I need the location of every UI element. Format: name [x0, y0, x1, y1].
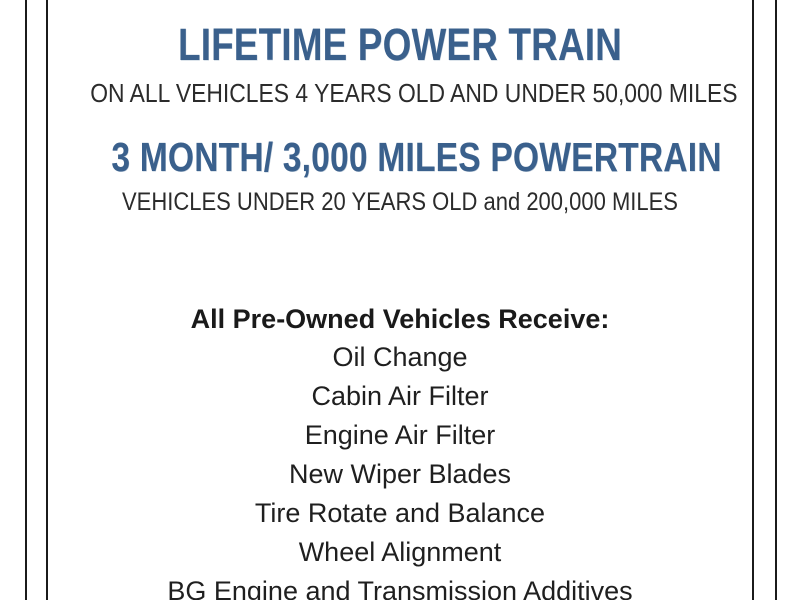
list-item: New Wiper Blades: [48, 455, 752, 494]
services-title: All Pre-Owned Vehicles Receive:: [48, 300, 752, 338]
list-item: Engine Air Filter: [48, 416, 752, 455]
list-item: Wheel Alignment: [48, 533, 752, 572]
services-list: Oil Change Cabin Air Filter Engine Air F…: [48, 338, 752, 600]
list-item: Cabin Air Filter: [48, 377, 752, 416]
list-item: Tire Rotate and Balance: [48, 494, 752, 533]
lifetime-powertrain-headline: LIFETIME POWER TRAIN: [111, 22, 688, 67]
list-item: BG Engine and Transmission Additives: [48, 572, 752, 600]
poster-content: LIFETIME POWER TRAIN ON ALL VEHICLES 4 Y…: [48, 0, 752, 600]
right-inner-rule: [752, 0, 754, 600]
three-month-powertrain-headline: 3 MONTH/ 3,000 MILES POWERTRAIN: [111, 137, 688, 178]
poster-canvas: LIFETIME POWER TRAIN ON ALL VEHICLES 4 Y…: [0, 0, 800, 600]
services-block: All Pre-Owned Vehicles Receive: Oil Chan…: [48, 300, 752, 600]
right-outer-rule: [775, 0, 777, 600]
left-outer-rule: [25, 0, 27, 600]
lifetime-powertrain-subline: ON ALL VEHICLES 4 YEARS OLD AND UNDER 50…: [90, 80, 710, 106]
three-month-powertrain-subline: VEHICLES UNDER 20 YEARS OLD and 200,000 …: [90, 190, 710, 215]
list-item: Oil Change: [48, 338, 752, 377]
